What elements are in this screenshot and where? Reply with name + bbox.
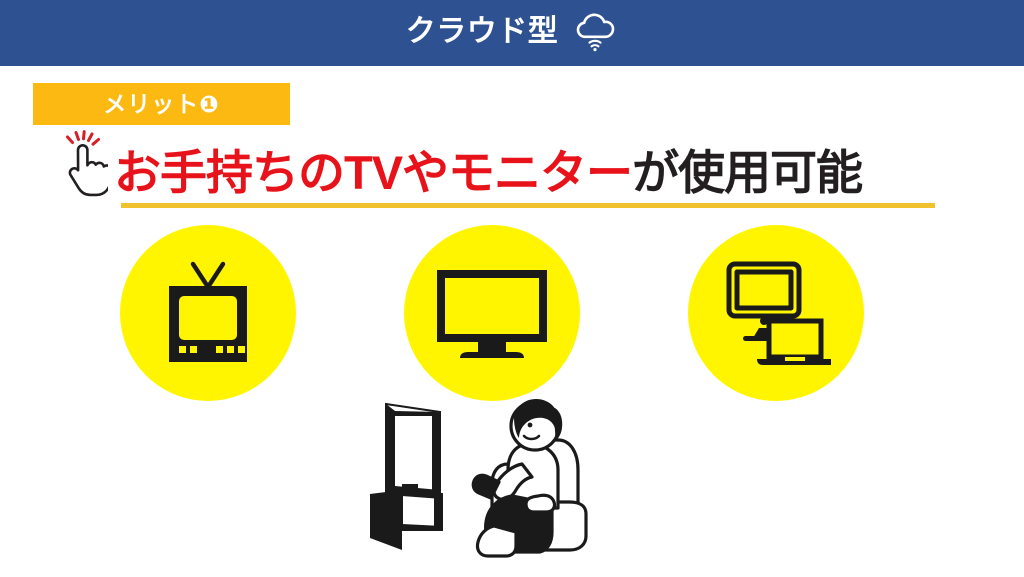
header-inner: クラウド型 xyxy=(406,12,619,52)
headline: お手持ちのTVやモニターが使用可能 xyxy=(56,132,862,200)
page-title: クラウド型 xyxy=(406,17,559,47)
header-bar: クラウド型 xyxy=(0,0,1024,66)
device-circle-row xyxy=(0,225,1024,401)
tap-hand-icon xyxy=(56,130,114,200)
seated-person-with-remote xyxy=(473,399,586,556)
desktop-laptop-icon xyxy=(721,258,831,368)
device-circle-desktop-laptop xyxy=(688,225,864,401)
flat-monitor-icon xyxy=(434,266,550,360)
merit-badge: メリット❶ xyxy=(33,83,290,125)
headline-text: お手持ちのTVやモニターが使用可能 xyxy=(114,149,862,200)
cloud-signal-icon xyxy=(572,12,618,52)
device-circle-flat-monitor xyxy=(404,225,580,401)
person-watching-tv-illustration xyxy=(362,398,628,558)
headline-emphasis: お手持ちのTVやモニター xyxy=(114,146,632,199)
slide-root: クラウド型 メリット❶ xyxy=(0,0,1024,577)
headline-underline xyxy=(121,203,935,208)
flat-tv-on-stand xyxy=(370,404,442,550)
crt-tv-icon xyxy=(155,261,261,365)
merit-badge-label: メリット❶ xyxy=(103,93,219,116)
headline-rest: が使用可能 xyxy=(632,146,862,199)
device-circle-crt-tv xyxy=(120,225,296,401)
